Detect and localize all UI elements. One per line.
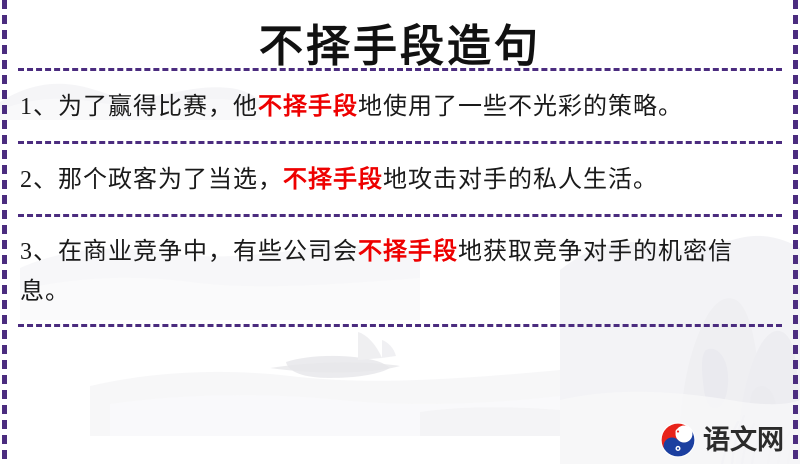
site-logo-text: 语文网: [703, 427, 784, 454]
footer-area: [18, 327, 782, 401]
sentence-2-keyword: 不择手段: [283, 167, 383, 193]
page-title: 不择手段造句: [18, 0, 782, 68]
sentence-1-after: 地使用了一些不光彩的策略。: [358, 94, 683, 120]
sentence-2-before: 2、那个政客为了当选，: [20, 167, 283, 193]
sentence-item-2: 2、那个政客为了当选，不择手段地攻击对手的私人生活。: [18, 144, 782, 214]
poster-content: 不择手段造句 1、为了赢得比赛，他不择手段地使用了一些不光彩的策略。 2、那个政…: [0, 0, 800, 464]
frame-border-right: [793, 0, 798, 464]
site-logo[interactable]: 语文网: [660, 422, 784, 458]
sentence-3-keyword: 不择手段: [358, 239, 458, 265]
yinyang-icon: [660, 422, 696, 458]
sentence-3-before: 3、在商业竞争中，有些公司会: [20, 239, 358, 265]
sentence-1-keyword: 不择手段: [258, 94, 358, 120]
sentence-2-after: 地攻击对手的私人生活。: [383, 167, 658, 193]
poster-page: 不择手段造句 1、为了赢得比赛，他不择手段地使用了一些不光彩的策略。 2、那个政…: [0, 0, 800, 464]
sentence-1-before: 1、为了赢得比赛，他: [20, 94, 258, 120]
frame-border-left: [2, 0, 7, 464]
sentence-item-1: 1、为了赢得比赛，他不择手段地使用了一些不光彩的策略。: [18, 71, 782, 141]
sentence-item-3: 3、在商业竞争中，有些公司会不择手段地获取竞争对手的机密信息。: [18, 217, 782, 324]
